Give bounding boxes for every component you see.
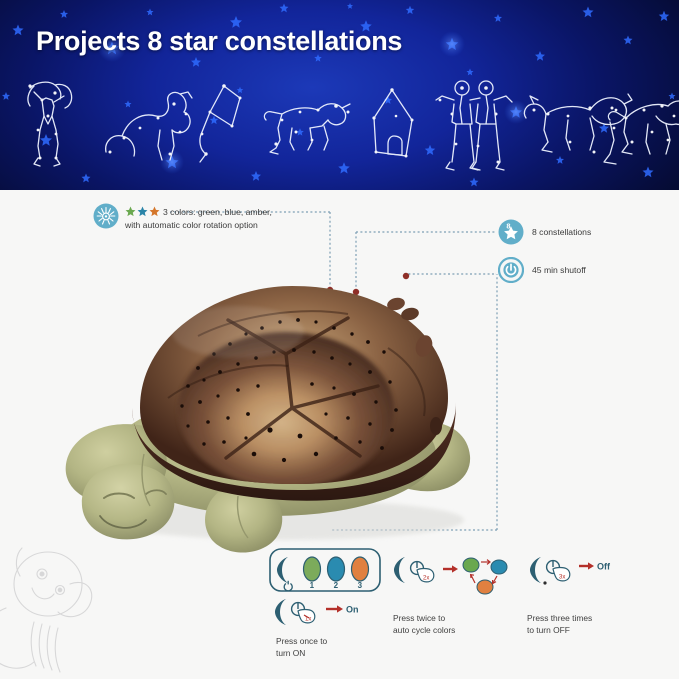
- light-burst-icon: [93, 203, 119, 229]
- pegasus-constellation: [524, 94, 632, 164]
- twins-constellation: [436, 81, 512, 170]
- callout-shutoff-label: 45 min shutoff: [532, 257, 586, 277]
- color-button-1[interactable]: [304, 557, 321, 581]
- svg-text:1: 1: [310, 581, 315, 590]
- house-constellation: [374, 90, 412, 156]
- moon-icon-2: [275, 599, 286, 625]
- off-indicator-dot: [543, 581, 546, 584]
- caption-line2: to turn OFF: [527, 625, 570, 635]
- instruction-press-twice: 2x Press twice to: [393, 553, 513, 636]
- header-banner: Projects 8 star constellations: [0, 0, 679, 190]
- callout-colors-text: 3 colors: green, blue, amber, with autom…: [125, 203, 340, 231]
- serpent-lion-constellation: [106, 92, 192, 160]
- star-green-icon: [125, 206, 136, 217]
- moon-icon: [530, 557, 541, 583]
- instruction-press-once: 1 2 3 1x On: [268, 547, 398, 659]
- svg-text:2: 2: [334, 581, 339, 590]
- callout-constellations: 8 8 constellations: [498, 219, 591, 245]
- callout-colors-line2: with automatic color rotation option: [125, 220, 258, 230]
- star-badge-icon: 8: [498, 219, 524, 245]
- badge-number: 8: [506, 222, 510, 231]
- dog-constellation: [264, 104, 350, 154]
- press-once-caption: Press once to turn ON: [276, 635, 398, 659]
- product-infographic: Projects 8 star constellations: [0, 0, 679, 679]
- caption-line1: Press twice to: [393, 613, 445, 623]
- arrow-right-icon: [579, 562, 594, 569]
- pressing-hand-icon: 3x: [553, 568, 570, 581]
- caption-line2: turn ON: [276, 648, 305, 658]
- caption-line2: auto cycle colors: [393, 625, 455, 635]
- callout-colors: 3 colors: green, blue, amber, with autom…: [93, 203, 340, 231]
- moon-icon: [394, 557, 405, 583]
- arrow-right-icon: [326, 605, 343, 612]
- press-twice-caption: Press twice to auto cycle colors: [393, 612, 513, 636]
- press-three-times-caption: Press three times to turn OFF: [527, 612, 647, 636]
- star-blue-icon: [137, 206, 148, 217]
- color-button-3[interactable]: [352, 557, 369, 581]
- turtle-night-light-product: [48, 258, 498, 558]
- callout-constellations-label: 8 constellations: [532, 219, 591, 239]
- shell-highlight: [172, 306, 304, 358]
- cycle-color-green: [463, 558, 479, 572]
- off-label: Off: [597, 561, 611, 571]
- svg-text:3x: 3x: [559, 575, 565, 581]
- press-once-diagram: 1 2 3 1x On: [268, 547, 398, 625]
- arrow-right-icon: [443, 565, 458, 572]
- control-button-d[interactable]: [430, 417, 442, 435]
- press-twice-diagram: 2x: [393, 553, 513, 601]
- on-label: On: [346, 604, 359, 614]
- cycle-color-orange: [477, 580, 493, 594]
- svg-text:1x: 1x: [305, 617, 311, 623]
- constellation-figures: [0, 70, 679, 185]
- hercules-constellation: [28, 82, 72, 166]
- kite-constellation: [200, 86, 240, 162]
- press-three-times-diagram: 3x Off: [527, 553, 647, 601]
- color-star-swatches: [125, 206, 160, 217]
- power-symbol-icon: [284, 581, 292, 591]
- pressing-hand-icon: 1x: [298, 610, 315, 623]
- instruction-press-three-times: 3x Off Press three times to turn OFF: [527, 553, 647, 636]
- caption-line1: Press three times: [527, 613, 592, 623]
- star-amber-icon: [149, 206, 160, 217]
- usage-instructions: 1 2 3 1x On: [0, 545, 679, 679]
- button-number-labels: 1 2 3: [310, 581, 363, 590]
- callout-colors-line1: 3 colors: green, blue, amber,: [163, 207, 272, 217]
- timer-power-icon: [498, 257, 524, 283]
- callout-shutoff: 45 min shutoff: [498, 257, 586, 283]
- svg-text:2x: 2x: [423, 576, 429, 582]
- page-title: Projects 8 star constellations: [36, 26, 402, 57]
- moon-icon: [277, 557, 288, 583]
- cycle-color-blue: [491, 560, 507, 574]
- color-button-2[interactable]: [328, 557, 345, 581]
- pressing-hand-icon: 2x: [417, 569, 434, 582]
- caption-line1: Press once to: [276, 636, 327, 646]
- svg-text:3: 3: [358, 581, 363, 590]
- color-cycle-group: [463, 558, 507, 594]
